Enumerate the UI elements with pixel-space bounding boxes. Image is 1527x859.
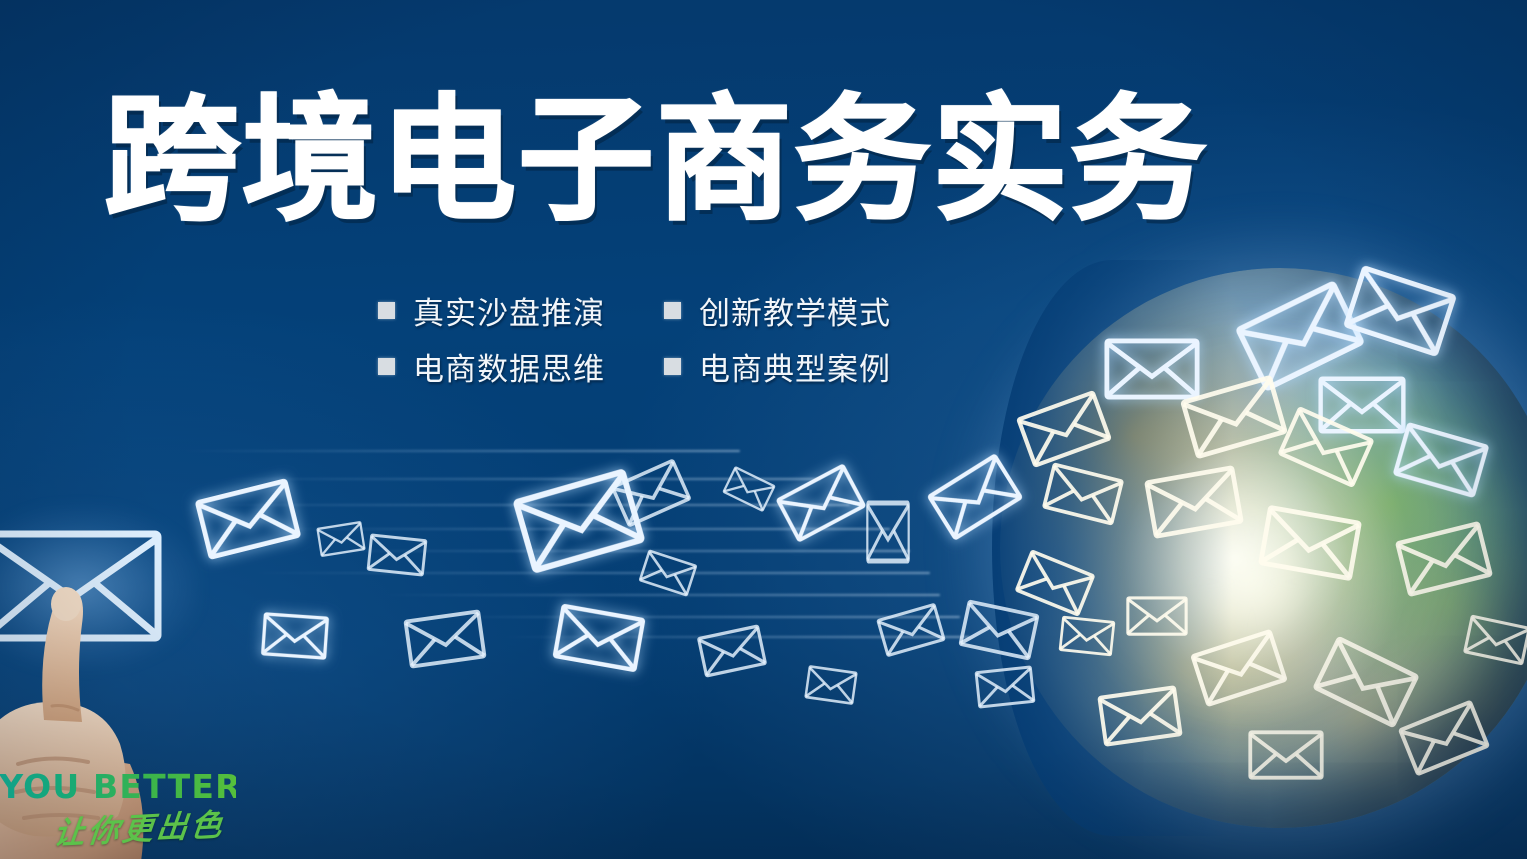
- envelope-icon: [1058, 615, 1115, 656]
- envelope-icon: [1248, 730, 1324, 780]
- envelope-icon: [1126, 596, 1188, 636]
- list-item-label: 电商典型案例: [699, 344, 891, 389]
- envelope-icon: [366, 533, 428, 577]
- envelope-icon: [804, 665, 858, 706]
- list-item: 真实沙盘推演: [378, 288, 664, 333]
- square-bullet-icon: [664, 358, 681, 375]
- square-bullet-icon: [664, 302, 681, 319]
- square-bullet-icon: [378, 302, 395, 319]
- page-title: 跨境电子商务实务: [104, 92, 1284, 231]
- list-item: 电商典型案例: [664, 344, 950, 389]
- brand-logo: KE YOU BETTER. 让你更出色: [0, 767, 236, 853]
- list-item-label: 电商数据思维: [413, 344, 605, 389]
- list-item-label: 创新教学模式: [699, 288, 891, 333]
- envelope-icon: [974, 665, 1036, 709]
- envelope-icon: [261, 612, 330, 660]
- envelope-icon: [1097, 685, 1183, 748]
- list-item: 创新教学模式: [664, 288, 950, 333]
- speed-line: [380, 594, 940, 596]
- speed-line: [180, 450, 740, 452]
- list-item: 电商数据思维: [378, 344, 664, 389]
- envelope-icon: [866, 500, 910, 564]
- list-item-label: 真实沙盘推演: [413, 288, 605, 333]
- logo-tagline-chinese: 让你更出色: [52, 799, 240, 853]
- slide-canvas: 跨境电子商务实务 真实沙盘推演 创新教学模式 电商数据思维 电商典型案例 KE …: [0, 0, 1527, 859]
- square-bullet-icon: [378, 358, 395, 375]
- speed-line: [250, 572, 930, 574]
- envelope-icon: [1104, 338, 1200, 400]
- feature-list: 真实沙盘推演 创新教学模式 电商数据思维 电商典型案例: [378, 282, 950, 394]
